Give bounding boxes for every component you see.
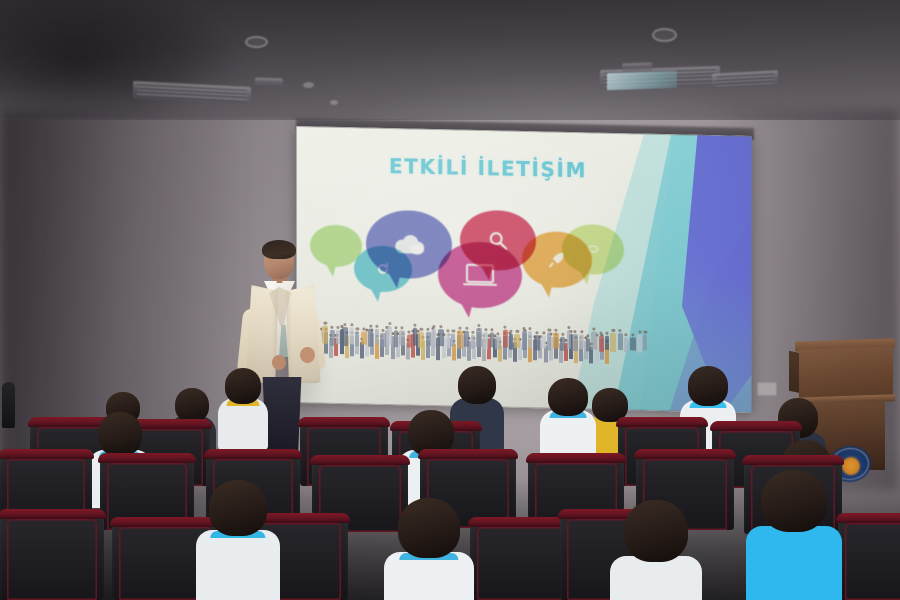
crowd-figure xyxy=(618,333,623,350)
crowd-figure xyxy=(495,336,501,349)
crowd-figure xyxy=(349,327,354,344)
crowd-figure xyxy=(630,337,636,350)
vent-slats xyxy=(137,84,247,102)
audience-member xyxy=(746,470,842,600)
crowd-figure xyxy=(605,336,609,350)
speech-bubble-refresh xyxy=(354,245,412,292)
audience-torso xyxy=(610,556,702,600)
crowd-figure xyxy=(432,329,436,348)
crowd-figure xyxy=(380,333,386,347)
crowd-figure xyxy=(503,330,508,348)
audience-member xyxy=(384,498,474,600)
crowd-figure xyxy=(407,334,412,347)
presenter-hand-right xyxy=(300,347,315,363)
seat-armrest[interactable] xyxy=(2,382,15,428)
crowd-figure xyxy=(361,331,367,344)
audience-head xyxy=(398,498,460,558)
crowd-figure xyxy=(355,331,359,346)
crowd-figure xyxy=(637,334,642,352)
presenter-hair xyxy=(262,240,296,259)
crowd-figure xyxy=(553,333,559,349)
crowd-figure xyxy=(509,334,513,350)
crowd-figure xyxy=(464,331,469,347)
audience-head xyxy=(458,366,496,404)
crowd-figure xyxy=(368,329,373,347)
wall-socket xyxy=(757,382,777,396)
audience-member xyxy=(218,368,268,456)
crowd-figure xyxy=(451,333,455,346)
crowd-figure xyxy=(624,337,628,352)
crowd-figure xyxy=(547,333,551,351)
crowd-figure xyxy=(413,328,417,346)
ceiling-vent xyxy=(622,62,652,71)
crowd-figure xyxy=(394,330,398,347)
audience-head xyxy=(225,368,261,404)
crowd-figure xyxy=(426,332,431,346)
crowd-figure xyxy=(387,326,392,345)
crowd-figure xyxy=(418,332,424,348)
lectern-body xyxy=(799,346,893,401)
smoke-detector-icon xyxy=(303,82,314,88)
audience-torso xyxy=(196,530,280,600)
crowd-figure xyxy=(514,334,520,348)
smoke-detector-icon xyxy=(330,100,338,105)
crowd-figure xyxy=(541,335,546,348)
crowd-figure xyxy=(572,334,578,351)
speech-bubble-laptop xyxy=(438,241,522,309)
ceiling-light-panel xyxy=(607,71,677,90)
crowd-figure xyxy=(534,335,540,350)
ceiling-vent xyxy=(255,78,283,88)
crowd-figure xyxy=(457,331,463,349)
crowd-figure xyxy=(610,333,616,352)
seat-cushion xyxy=(845,523,900,600)
speech-bubble-group xyxy=(310,206,666,324)
crowd-figure xyxy=(528,331,532,348)
crowd-figure xyxy=(483,332,488,349)
speech-bubble-message xyxy=(562,224,624,275)
crowd-figure xyxy=(399,330,405,345)
crowd-figure xyxy=(567,330,571,349)
crowd-figure xyxy=(599,336,604,352)
crowd-figure xyxy=(560,337,565,351)
auditorium-seat[interactable] xyxy=(0,512,104,600)
audience-head xyxy=(624,500,688,562)
crowd-figure xyxy=(375,329,379,345)
crowd-figure xyxy=(471,335,475,349)
audience-head xyxy=(209,480,267,536)
presenter-hand-left xyxy=(272,355,286,370)
slide-crowd-illustration xyxy=(314,313,658,365)
crowd-figure xyxy=(438,329,444,346)
audience-head xyxy=(688,366,728,406)
crowd-figure xyxy=(490,332,494,347)
auditorium-seat[interactable] xyxy=(838,516,900,600)
crowd-figure xyxy=(445,333,450,348)
audience-head xyxy=(175,388,209,422)
crowd-figure xyxy=(579,334,584,349)
crowd-figure xyxy=(586,338,590,351)
crowd-figure xyxy=(522,331,527,350)
refresh-icon xyxy=(360,250,406,288)
audience-torso xyxy=(746,526,842,600)
audience-head xyxy=(98,412,142,456)
downlight-icon xyxy=(652,28,677,42)
audience-head xyxy=(548,378,588,416)
audience-head xyxy=(761,470,827,532)
audience-member xyxy=(196,480,280,600)
message-icon xyxy=(574,234,611,265)
crowd-figure xyxy=(591,331,597,349)
audience-member xyxy=(610,500,702,600)
crowd-figure xyxy=(476,328,482,347)
seat-cushion xyxy=(7,519,97,600)
vent-slats xyxy=(716,73,774,86)
laptop-icon xyxy=(438,241,522,309)
downlight-icon xyxy=(245,36,268,48)
seat-cushion xyxy=(477,527,573,600)
crowd-figure xyxy=(643,335,647,351)
auditorium-photo: ETKİLİ İLETİŞİM xyxy=(0,0,900,600)
